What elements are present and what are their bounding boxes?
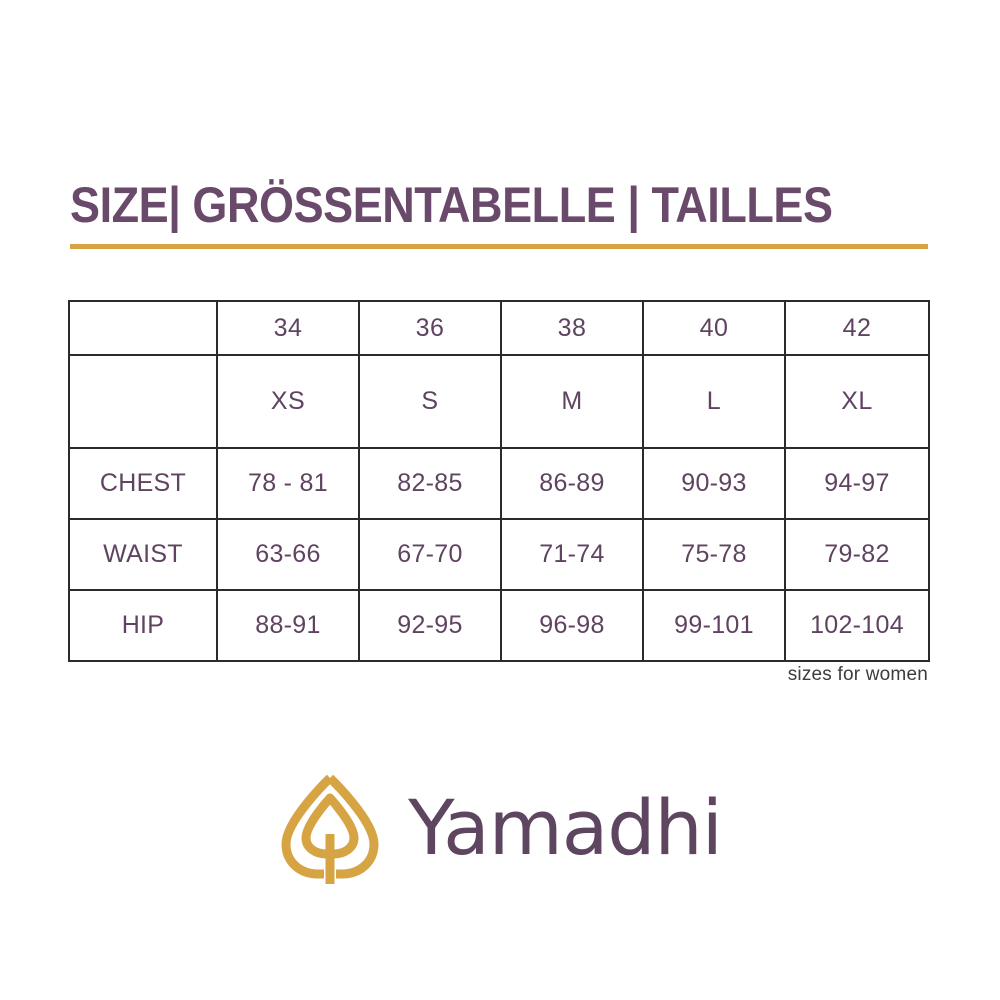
cell-hip-38: 96-98 [501,590,643,661]
row-label-chest: CHEST [69,448,217,519]
cell-waist-42: 79-82 [785,519,929,590]
table-row: WAIST 63-66 67-70 71-74 75-78 79-82 [69,519,929,590]
header-size-40: 40 [643,301,785,355]
cell-waist-34: 63-66 [217,519,359,590]
title-divider-rule [70,244,928,249]
yamadhi-leaf-icon [278,772,382,884]
table-header-row-letter: XS S M L XL [69,355,929,448]
cell-chest-40: 90-93 [643,448,785,519]
page-title: SIZE| GRÖSSENTABELLE | TAILLES [70,176,842,234]
size-table: 34 36 38 40 42 XS S M L XL CHEST 78 - 81 [68,300,930,662]
cell-waist-40: 75-78 [643,519,785,590]
header-size-l: L [643,355,785,448]
header-size-38: 38 [501,301,643,355]
table-row: CHEST 78 - 81 82-85 86-89 90-93 94-97 [69,448,929,519]
brand-wordmark: Yamadhi [408,788,722,868]
header-corner-cell [69,301,217,355]
row-label-hip: HIP [69,590,217,661]
table-header-row-numeric: 34 36 38 40 42 [69,301,929,355]
header-corner-cell-2 [69,355,217,448]
cell-hip-42: 102-104 [785,590,929,661]
cell-chest-42: 94-97 [785,448,929,519]
cell-hip-34: 88-91 [217,590,359,661]
header-size-36: 36 [359,301,501,355]
row-label-waist: WAIST [69,519,217,590]
table-caption: sizes for women [788,664,928,686]
size-chart-page: SIZE| GRÖSSENTABELLE | TAILLES 34 36 38 … [0,0,1000,1000]
brand-logo: Yamadhi [0,772,1000,884]
cell-chest-34: 78 - 81 [217,448,359,519]
size-table-container: 34 36 38 40 42 XS S M L XL CHEST 78 - 81 [68,300,928,662]
cell-waist-38: 71-74 [501,519,643,590]
header-size-m: M [501,355,643,448]
table-row: HIP 88-91 92-95 96-98 99-101 102-104 [69,590,929,661]
header-size-s: S [359,355,501,448]
header-size-xl: XL [785,355,929,448]
cell-chest-36: 82-85 [359,448,501,519]
cell-hip-40: 99-101 [643,590,785,661]
header-size-xs: XS [217,355,359,448]
cell-chest-38: 86-89 [501,448,643,519]
cell-waist-36: 67-70 [359,519,501,590]
header-size-42: 42 [785,301,929,355]
title-block: SIZE| GRÖSSENTABELLE | TAILLES [70,176,928,249]
header-size-34: 34 [217,301,359,355]
cell-hip-36: 92-95 [359,590,501,661]
